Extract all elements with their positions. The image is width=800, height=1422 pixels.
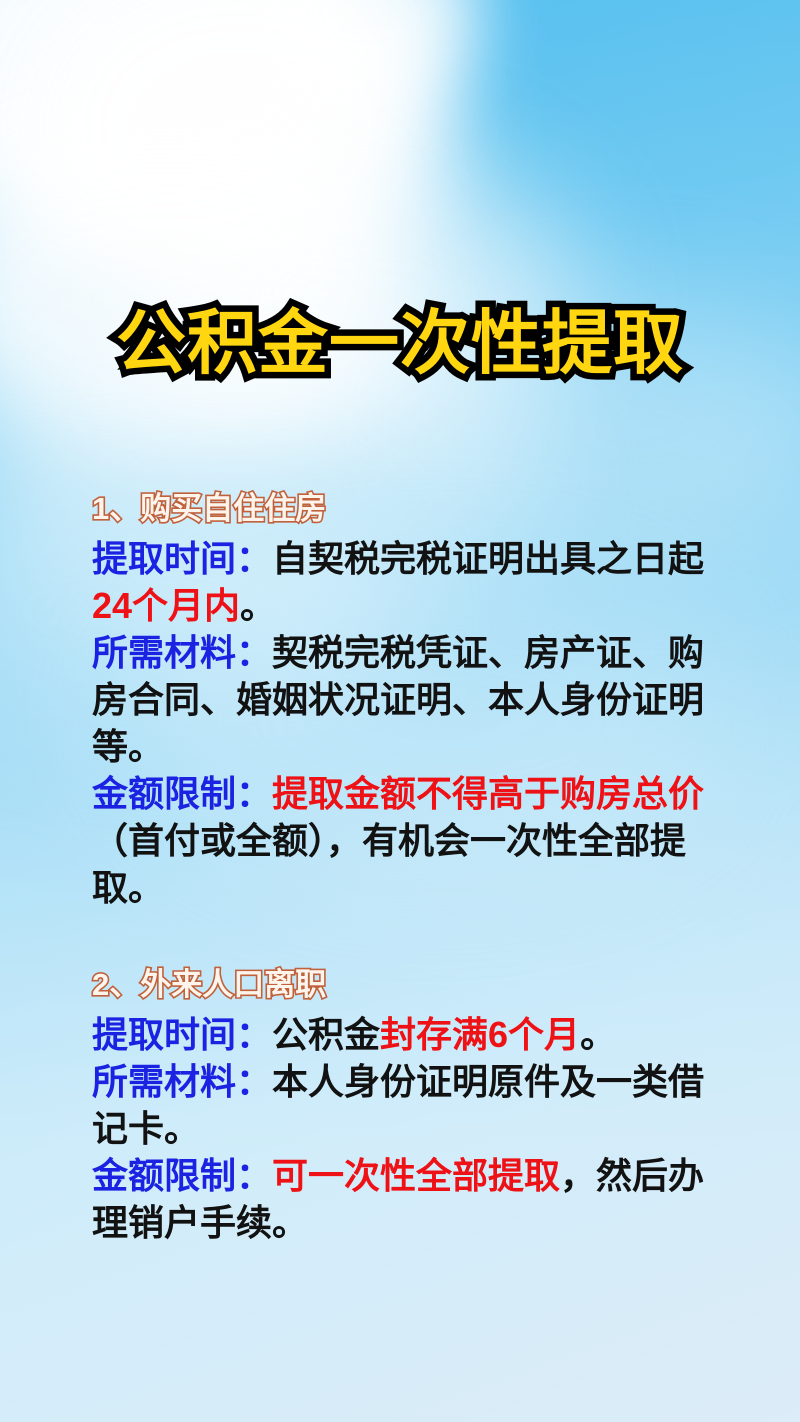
info-line: 金额限制：提取金额不得高于购房总价（首付或全额），有机会一次性全部提取。 [92, 770, 712, 911]
page-title: 公积金一次性提取 [116, 300, 684, 386]
info-line: 金额限制：可一次性全部提取，然后办理销户手续。 [92, 1152, 712, 1246]
info-line: 所需材料：契税完税凭证、房产证、购房合同、婚姻状况证明、本人身份证明等。 [92, 629, 712, 770]
cloud-shape [30, 0, 450, 290]
highlight-text: 可一次性全部提取 [272, 1155, 560, 1196]
cloud-shape [0, 130, 430, 460]
info-label: 提取时间： [92, 1014, 272, 1055]
info-label: 金额限制： [92, 1155, 272, 1196]
section-heading: 2、外来人口离职 [92, 963, 712, 1007]
cloud-shape [250, 0, 480, 110]
info-text: 自契税完税证明出具之日起 [272, 538, 704, 579]
info-line: 所需材料：本人身份证明原件及一类借记卡。 [92, 1058, 712, 1152]
info-text: 公积金 [272, 1014, 380, 1055]
section-heading: 1、购买自住住房 [92, 487, 712, 531]
highlight-text: 24个月内 [92, 585, 240, 626]
poster-canvas: 公积金一次性提取 1、购买自住住房提取时间：自契税完税证明出具之日起24个月内。… [0, 0, 800, 1422]
cloud-shape [0, 0, 410, 260]
info-label: 所需材料： [92, 1061, 272, 1102]
info-line: 提取时间：公积金封存满6个月。 [92, 1011, 712, 1058]
title-block: 公积金一次性提取 [0, 300, 800, 386]
info-label: 金额限制： [92, 773, 272, 814]
info-label: 所需材料： [92, 632, 272, 673]
content-section: 1、购买自住住房提取时间：自契税完税证明出具之日起24个月内。所需材料：契税完税… [92, 487, 712, 911]
highlight-text: 提取金额不得高于购房总价 [272, 773, 704, 814]
info-text: 。 [580, 1014, 616, 1055]
info-text: （首付或全额），有机会一次性全部提取。 [92, 820, 686, 908]
content-section: 2、外来人口离职提取时间：公积金封存满6个月。所需材料：本人身份证明原件及一类借… [92, 963, 712, 1246]
info-line: 提取时间：自契税完税证明出具之日起24个月内。 [92, 535, 712, 629]
highlight-text: 封存满6个月 [380, 1014, 580, 1055]
info-text: 。 [240, 585, 276, 626]
content-body: 1、购买自住住房提取时间：自契税完税证明出具之日起24个月内。所需材料：契税完税… [92, 487, 712, 1246]
info-label: 提取时间： [92, 538, 272, 579]
